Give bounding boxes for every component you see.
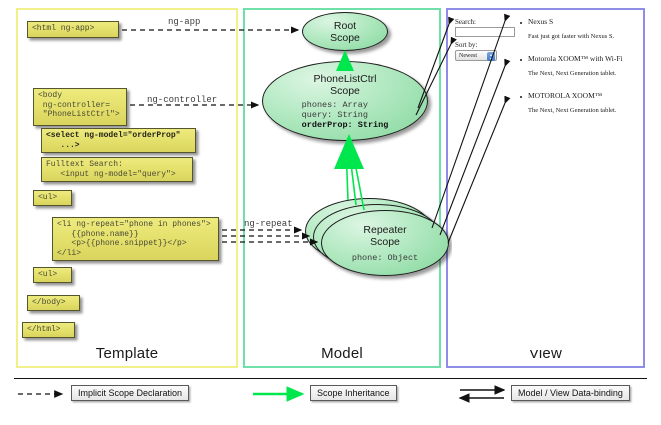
code-html-tag: <html ng-app> bbox=[27, 21, 119, 38]
code-search-input-tag: Fulltext Search: <input ng-model="query"… bbox=[41, 157, 193, 182]
scope-phonelistctrl-title-1: PhoneListCtrl bbox=[313, 73, 376, 85]
view-browser-pane: Search: Sort by: Newest Nexus S Fast jus… bbox=[452, 14, 640, 350]
chevron-updown-icon bbox=[487, 52, 495, 61]
scope-repeater: Repeater Scope phone: Object bbox=[321, 210, 449, 276]
legend-data-binding: Model / View Data-binding bbox=[511, 385, 630, 401]
scope-props-bold: orderProp: String bbox=[302, 120, 389, 130]
edge-label-ng-controller: ng-controller bbox=[147, 95, 217, 105]
list-bullet bbox=[520, 22, 522, 24]
code-ul-open-tag: <ul> bbox=[33, 190, 72, 206]
list-item: MOTOROLA XOOM™ The Next, Next Generation… bbox=[528, 91, 616, 114]
code-body-close-tag: </body> bbox=[27, 295, 80, 311]
list-bullet bbox=[520, 59, 522, 61]
sort-label: Sort by: bbox=[455, 41, 477, 49]
phone-name: Motorola XOOM™ with Wi-Fi bbox=[528, 54, 623, 63]
scope-root-title-1: Root bbox=[334, 20, 356, 32]
column-template: Template bbox=[16, 8, 238, 368]
legend-scope-inheritance: Scope Inheritance bbox=[310, 385, 397, 401]
search-label: Search: bbox=[455, 18, 476, 26]
column-label-template: Template bbox=[18, 345, 236, 362]
search-input[interactable] bbox=[455, 27, 515, 37]
code-html-close-tag: </html> bbox=[22, 322, 75, 338]
scope-props-plain: phones: Array query: String bbox=[302, 100, 368, 120]
phone-snippet: Fast just got faster with Nexus S. bbox=[528, 33, 614, 40]
scope-repeater-title-2: Scope bbox=[370, 236, 400, 248]
scope-repeater-title-1: Repeater bbox=[363, 224, 406, 236]
phone-snippet: The Next, Next Generation tablet. bbox=[528, 107, 616, 114]
scope-phonelistctrl: PhoneListCtrl Scope phones: Array query:… bbox=[262, 61, 428, 141]
diagram-canvas: Template Model View <html ng-app> <body … bbox=[0, 0, 661, 425]
scope-phonelistctrl-title-2: Scope bbox=[330, 85, 360, 97]
code-ul-close-tag: <ul> bbox=[33, 267, 72, 283]
list-bullet bbox=[520, 96, 522, 98]
legend-divider bbox=[14, 378, 647, 379]
scope-root-title-2: Scope bbox=[330, 32, 360, 44]
list-item: Motorola XOOM™ with Wi-Fi The Next, Next… bbox=[528, 54, 623, 77]
legend-implicit-scope-declaration: Implicit Scope Declaration bbox=[71, 385, 189, 401]
scope-phonelistctrl-props: phones: Array query: String orderProp: S… bbox=[302, 100, 389, 130]
phone-name: Nexus S bbox=[528, 17, 614, 26]
phone-snippet: The Next, Next Generation tablet. bbox=[528, 70, 623, 77]
code-li-repeat-tag: <li ng-repeat="phone in phones"> {{phone… bbox=[52, 217, 219, 261]
sort-select[interactable]: Newest bbox=[455, 50, 497, 61]
scope-root: Root Scope bbox=[302, 12, 388, 51]
code-select-tag: <select ng-model="orderProp" ...> bbox=[41, 128, 196, 153]
column-label-model: Model bbox=[245, 345, 439, 362]
edge-label-ng-app: ng-app bbox=[168, 17, 200, 27]
sort-select-value: Newest bbox=[459, 53, 477, 59]
scope-repeater-props: phone: Object bbox=[352, 253, 418, 263]
phone-name: MOTOROLA XOOM™ bbox=[528, 91, 616, 100]
list-item: Nexus S Fast just got faster with Nexus … bbox=[528, 17, 614, 40]
edge-label-ng-repeat: ng-repeat bbox=[244, 219, 293, 229]
code-body-tag: <body ng-controller= "PhoneListCtrl"> bbox=[33, 88, 127, 126]
